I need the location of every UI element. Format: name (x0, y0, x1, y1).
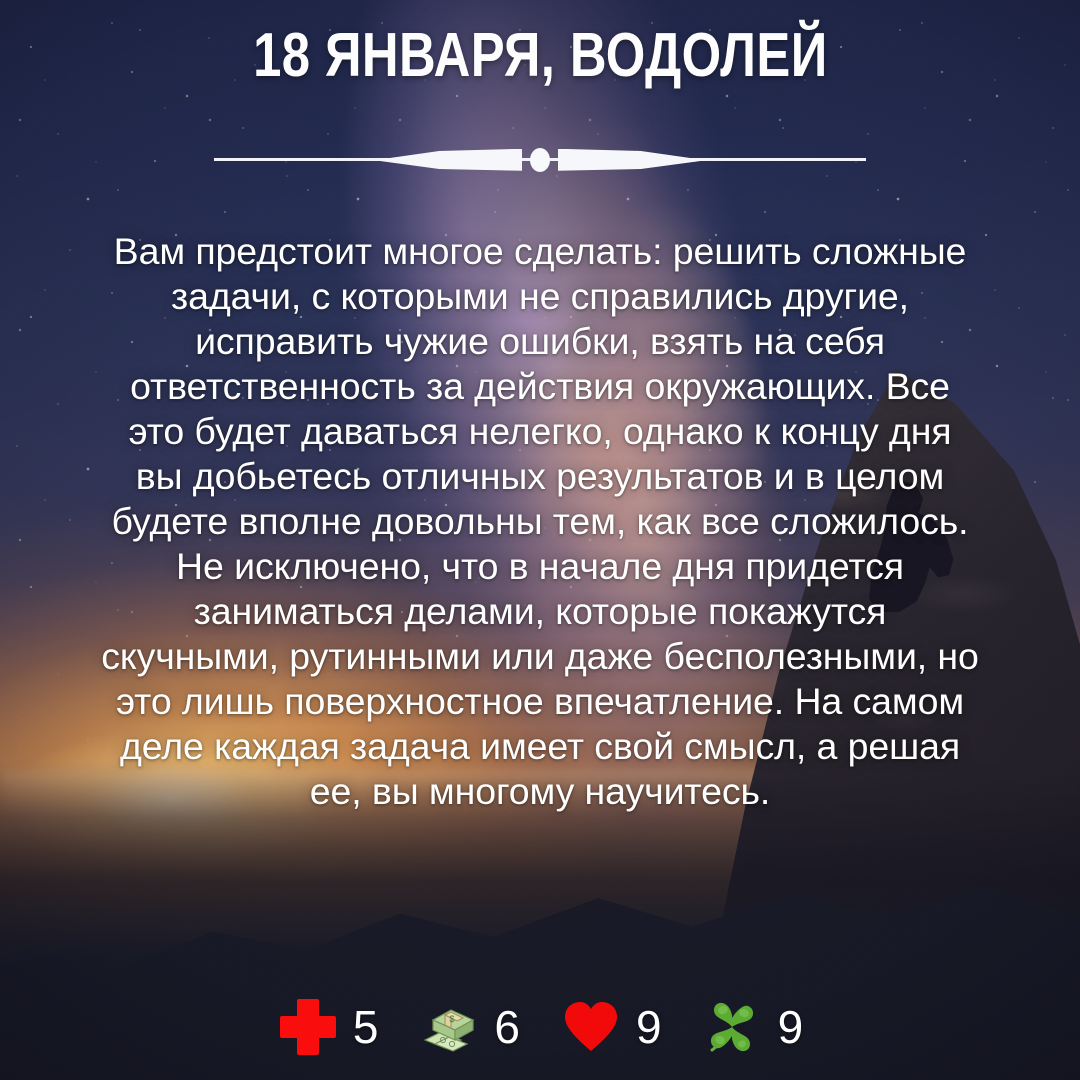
heart-icon (560, 996, 622, 1058)
money-icon: $ (418, 996, 480, 1058)
score-health: 5 (277, 996, 379, 1058)
card-content: 18 ЯНВАРЯ, ВОДОЛЕЙ Вам предстоит многое … (0, 0, 1080, 1080)
score-luck: 9 (702, 996, 804, 1058)
red-cross-icon (277, 996, 339, 1058)
score-love: 9 (560, 996, 662, 1058)
clover-icon (702, 996, 764, 1058)
score-money: $ 6 (418, 996, 520, 1058)
score-love-value: 9 (636, 1004, 662, 1050)
horoscope-text: Вам предстоит многое сделать: решить сло… (100, 229, 980, 814)
page-title: 18 ЯНВАРЯ, ВОДОЛЕЙ (253, 24, 828, 87)
ornamental-divider-icon (214, 143, 866, 177)
score-health-value: 5 (353, 1004, 379, 1050)
score-row: 5 (0, 996, 1080, 1058)
score-money-value: 6 (494, 1004, 520, 1050)
divider-wing-right (558, 149, 706, 171)
svg-text:$: $ (450, 1014, 455, 1024)
horoscope-card: 18 ЯНВАРЯ, ВОДОЛЕЙ Вам предстоит многое … (0, 0, 1080, 1080)
score-luck-value: 9 (778, 1004, 804, 1050)
divider-center-dot (530, 148, 550, 172)
divider-wing-left (374, 149, 522, 171)
